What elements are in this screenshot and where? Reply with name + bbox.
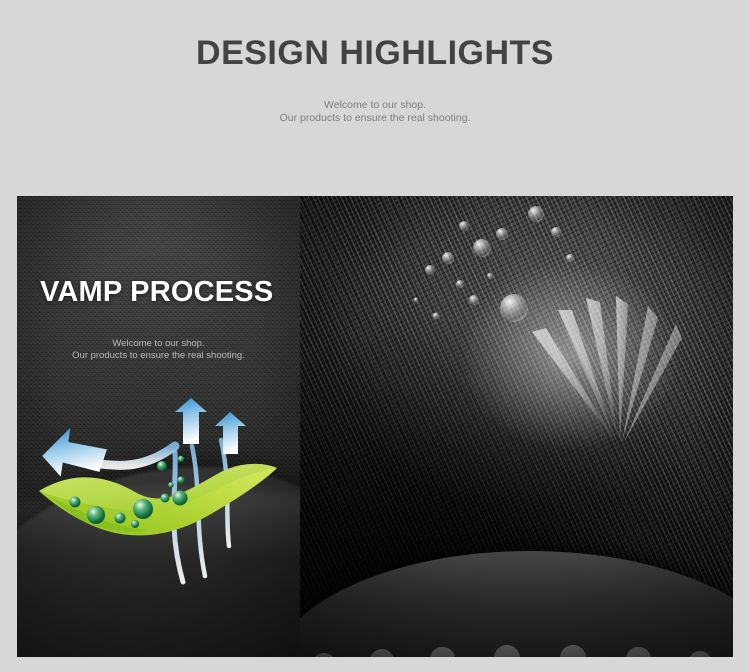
page-header: DESIGN HIGHLIGHTS Welcome to our shop. O… — [0, 0, 750, 196]
outsole-edge — [300, 551, 733, 657]
page-title: DESIGN HIGHLIGHTS — [0, 34, 750, 73]
breathability-graphic — [25, 396, 295, 596]
panel-subtitle-line-1: Welcome to our shop. — [17, 338, 300, 350]
panel-title-vamp-process: VAMP PROCESS — [40, 276, 273, 309]
mesh-water-droplets — [360, 196, 733, 516]
panel-subtitle: Welcome to our shop. Our products to ens… — [17, 338, 300, 362]
light-rays — [420, 236, 733, 536]
vamp-process-panel: VAMP PROCESS Welcome to our shop. Our pr… — [17, 196, 300, 657]
outsole-studs — [300, 631, 733, 657]
header-subtitle-line-1: Welcome to our shop. — [0, 99, 750, 112]
header-subtitle-line-2: Our products to ensure the real shooting… — [0, 112, 750, 125]
waterproof-mesh-photo — [300, 196, 733, 657]
header-subtitle: Welcome to our shop. Our products to ens… — [0, 99, 750, 125]
panel-subtitle-line-2: Our products to ensure the real shooting… — [17, 350, 300, 362]
highlight-panels: VAMP PROCESS Welcome to our shop. Our pr… — [17, 196, 733, 657]
